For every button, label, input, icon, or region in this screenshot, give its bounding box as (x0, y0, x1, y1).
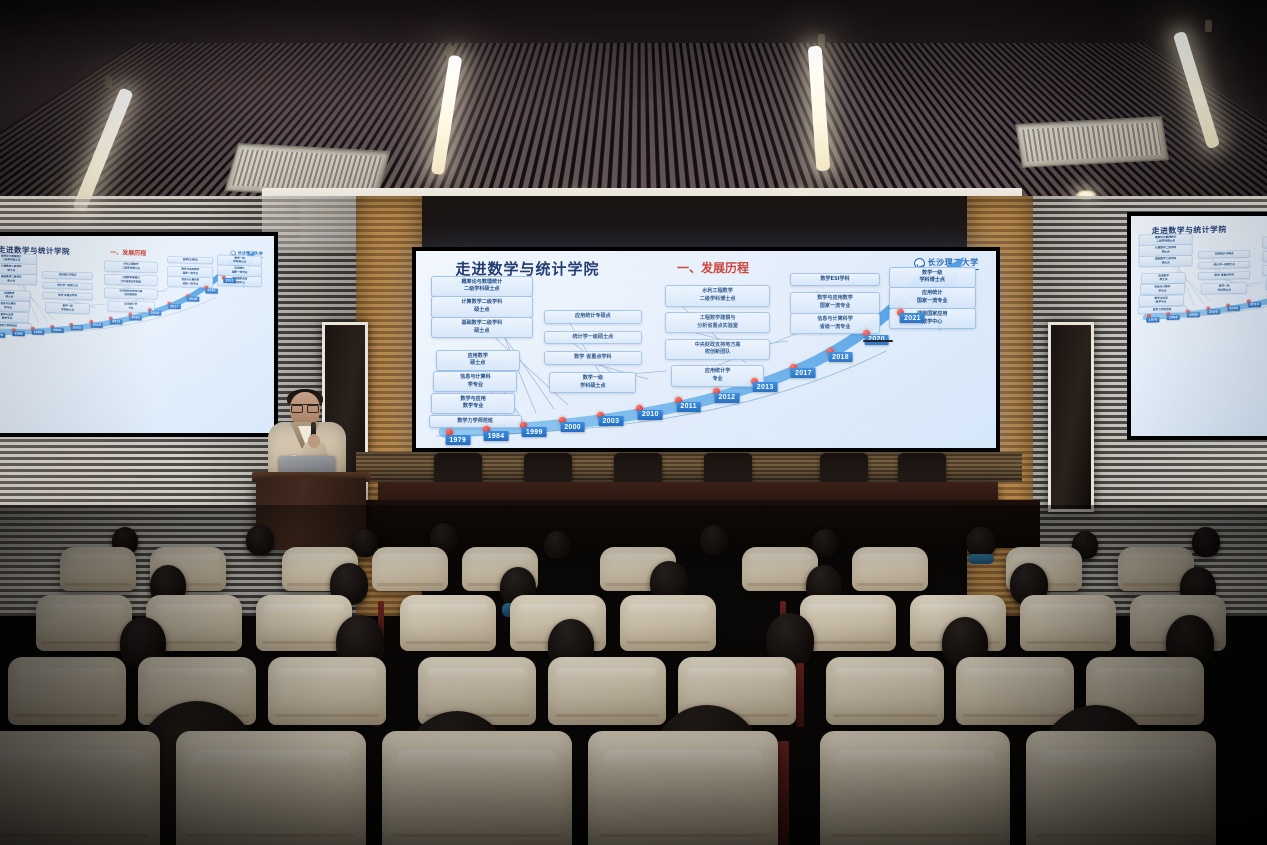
milestone-box: 中央财政支持地方高 校创新团队 (104, 287, 157, 299)
audience-head (966, 527, 996, 557)
year-badge: 1984 (1167, 315, 1180, 320)
year-badge: 2000 (1207, 309, 1220, 314)
audience-seat[interactable] (1026, 731, 1216, 845)
right-doorway[interactable] (1048, 322, 1094, 512)
milestone-box: 数学一级 学科博士点 (889, 267, 976, 288)
audience-seat[interactable] (382, 731, 572, 845)
milestone-box: 数学 省重点学科 (544, 351, 643, 365)
year-badge: 1979 (0, 333, 5, 338)
year-badge: 1999 (1187, 312, 1200, 317)
milestone-box: 数学ESI学科 (168, 256, 214, 264)
year-badge: 2010 (638, 410, 663, 420)
right-display-surface: 走进数学与统计学院 一、发展历程 长沙理工大学 (1131, 216, 1267, 436)
audience-seat[interactable] (826, 657, 944, 725)
milestone-box: 信息与计算科 学专业 (1140, 283, 1184, 295)
milestone-box: 水利工程数学 二级学科博士点 (665, 285, 769, 306)
panel-chair[interactable] (434, 453, 482, 483)
audience-head (700, 525, 728, 555)
milestone-box: 数学ESI学科 (790, 273, 880, 287)
milestone-box: 中央财政支持地方高 校创新团队 (665, 339, 769, 360)
milestone-box: 数学 省重点学科 (1198, 272, 1250, 280)
audience-seat[interactable] (8, 657, 126, 725)
audience-seat[interactable] (0, 731, 160, 845)
panel-chair[interactable] (704, 453, 752, 483)
milestone-box: 概率论与数理统计 二级学科硕士点 (431, 276, 533, 297)
pendant-stem-3 (818, 34, 825, 47)
year-badge: 2000 (560, 422, 585, 432)
year-badge: 2013 (753, 382, 778, 392)
milestone-box: 应用统计 国家一流专业 (889, 287, 976, 308)
milestone-box: 应用数学 硕士点 (1141, 272, 1185, 284)
milestone-box: 计算数学二级学科 硕士点 (431, 296, 533, 317)
year-badge: 2017 (791, 368, 816, 378)
year-badge: 2003 (598, 416, 623, 426)
milestone-box: 信息与计算科 学专业 (0, 300, 29, 312)
ceiling-shading (0, 0, 1267, 196)
milestone-box: 基础数学二级学科 硕士点 (1139, 255, 1193, 267)
milestone-box: 水利工程数学 二级学科博士点 (104, 261, 157, 273)
year-badge: 1999 (522, 427, 547, 437)
audience-seat[interactable] (620, 595, 716, 651)
milestone-box: 信息与计算科 学专业 (433, 371, 517, 392)
audience-seat[interactable] (800, 595, 896, 651)
panel-chair[interactable] (524, 453, 572, 483)
audience-seat[interactable] (956, 657, 1074, 725)
year-badge: 2011 (110, 319, 122, 324)
milestone-box: 应用统计专硕点 (544, 310, 643, 324)
year-badge: 2003 (71, 325, 83, 330)
milestone-box: 基础数学二级学科 硕士点 (431, 317, 533, 338)
pendant-stem-4 (1205, 20, 1212, 32)
slide-content: 走进数学与统计学院 一、发展历程 长沙理工大学 (416, 251, 996, 448)
milestone-box: 工程数学建模与 分析省重点实验室 (1262, 250, 1267, 262)
seat-frame (778, 741, 789, 845)
slide-content: 走进数学与统计学院 一、发展历程 长沙理工大学 (1131, 216, 1267, 324)
milestone-box: 统计学一级硕士点 (1198, 261, 1250, 269)
audience-seat[interactable] (1020, 595, 1116, 651)
year-badge: 2000 (51, 328, 63, 333)
year-badge: 2010 (91, 322, 103, 327)
slide-subtitle: 一、发展历程 (110, 248, 146, 258)
milestone-box: 统计学一级硕士点 (43, 282, 93, 290)
milestone-box: 数学与应用 数学专业 (431, 393, 515, 414)
audience-seat[interactable] (372, 547, 448, 591)
left-side-display[interactable]: 走进数学与统计学院 一、发展历程 长沙理工大学 (0, 232, 278, 437)
right-side-display[interactable]: 走进数学与统计学院 一、发展历程 长沙理工大学 (1127, 212, 1267, 440)
milestone-box: 应用统计专硕点 (43, 271, 93, 279)
year-badge: 2021 (223, 278, 235, 283)
year-badge: 2011 (676, 402, 700, 412)
milestone-box: 数学一级 学科硕士点 (549, 372, 636, 393)
year-badge: 2017 (168, 304, 180, 309)
audience-head (544, 531, 570, 559)
left-display-slide-mirror: 走进数学与统计学院 一、发展历程 长沙理工大学 (0, 240, 272, 347)
pendant-stem-1 (105, 76, 112, 88)
year-badge: 2010 (1248, 302, 1261, 307)
audience-seat[interactable] (400, 595, 496, 651)
milestone-box: 数学力学师范班 (429, 415, 522, 429)
milestone-box: 数学力学师范班 (1138, 306, 1187, 314)
audience-seating (0, 505, 1267, 845)
ac-vent-right (1015, 116, 1169, 168)
panel-chair[interactable] (898, 453, 946, 483)
audience-head (1192, 527, 1220, 557)
audience-seat[interactable] (852, 547, 928, 591)
main-screen-surface: 走进数学与统计学院 一、发展历程 长沙理工大学 (416, 251, 996, 448)
milestone-box: 基础数学二级学科 硕士点 (0, 273, 37, 285)
year-badge: 1979 (1147, 317, 1160, 322)
panel-chair[interactable] (614, 453, 662, 483)
milestone-box: 数学一级 学科硕士点 (1201, 283, 1247, 295)
year-badge: 1999 (32, 330, 44, 335)
seat-frame (796, 663, 804, 727)
audience-seat[interactable] (176, 731, 366, 845)
slide-subtitle: 一、发展历程 (677, 259, 749, 276)
year-badge: 2021 (900, 313, 925, 323)
milestone-box: 数学力学师范班 (0, 322, 32, 330)
milestone-box: 数学与应用数学 国家一流专业 (790, 292, 880, 313)
panel-chair[interactable] (820, 453, 868, 483)
lecture-hall-scene: 走进数学与统计学院 一、发展历程 长沙理工大学 (0, 0, 1267, 845)
milestone-box: 应用统计专硕点 (1198, 250, 1250, 258)
year-badge: 1984 (12, 331, 24, 336)
milestone-box: 数学与应用 数学专业 (0, 311, 28, 323)
milestone-box: 中央财政支持地方高 校创新团队 (1262, 264, 1267, 276)
milestone-box: 工程数学建模与 分析省重点实验室 (104, 274, 157, 286)
audience-seat[interactable] (60, 547, 136, 591)
year-badge: 2003 (1227, 306, 1240, 311)
audience-seat[interactable] (548, 657, 666, 725)
main-projection-screen[interactable]: 走进数学与统计学院 一、发展历程 长沙理工大学 (412, 247, 1000, 452)
audience-seat[interactable] (268, 657, 386, 725)
milestone-box: 统计学一级硕士点 (544, 331, 643, 345)
audience-head (246, 525, 274, 555)
presenter-hand (308, 434, 320, 448)
presenter-glasses-icon (291, 404, 319, 410)
year-badge: 2013 (149, 310, 161, 315)
audience-seat[interactable] (588, 731, 778, 845)
year-badge: 1979 (445, 435, 470, 445)
slide-content: 走进数学与统计学院 一、发展历程 长沙理工大学 (0, 240, 272, 347)
milestone-box: 应用统计学 专业 (671, 365, 764, 386)
year-badge: 1984 (484, 431, 509, 441)
year-badge: 2018 (828, 352, 853, 362)
milestone-box: 应用数学 硕士点 (0, 290, 31, 302)
year-badge: 2020 (205, 288, 217, 293)
laser-pointer-mark (863, 340, 893, 342)
milestone-box: 工程数学建模与 分析省重点实验室 (665, 312, 769, 333)
audience-seat[interactable] (36, 595, 132, 651)
milestone-box: 应用数学 硕士点 (436, 350, 520, 371)
audience-seat[interactable] (820, 731, 1010, 845)
milestone-box: 水利工程数学 二级学科博士点 (1262, 236, 1267, 248)
year-badge: 2012 (714, 393, 739, 403)
ceiling (0, 0, 1267, 196)
milestone-box: 数学 省重点学科 (43, 292, 93, 300)
right-display-slide-mirror: 走进数学与统计学院 一、发展历程 长沙理工大学 (1131, 216, 1267, 324)
year-badge: 2012 (129, 315, 141, 320)
left-display-surface: 走进数学与统计学院 一、发展历程 长沙理工大学 (0, 236, 274, 433)
milestone-box: 数学一级 学科硕士点 (46, 302, 90, 314)
milestone-box: 数学与应用 数学专业 (1139, 295, 1183, 307)
year-badge: 2018 (187, 297, 199, 302)
